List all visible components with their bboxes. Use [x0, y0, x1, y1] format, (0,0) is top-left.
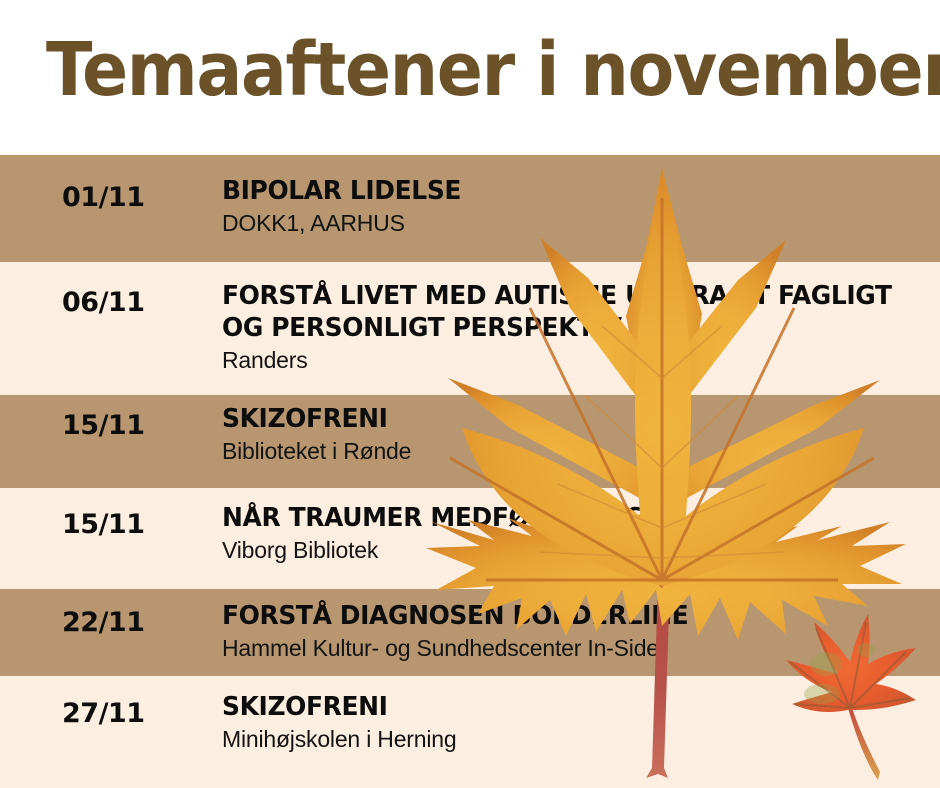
event-date: 15/11	[62, 411, 212, 441]
event-row: 15/11 NÅR TRAUMER MEDFØRER PTSD Viborg B…	[0, 488, 940, 589]
event-body: SKIZOFRENI Minihøjskolen i Herning	[222, 691, 930, 754]
event-date: 06/11	[62, 288, 212, 318]
event-title: NÅR TRAUMER MEDFØRER PTSD	[222, 502, 902, 534]
event-venue: DOKK1, AARHUS	[222, 208, 930, 238]
event-title: SKIZOFRENI	[222, 403, 902, 435]
event-venue: Viborg Bibliotek	[222, 535, 930, 565]
event-venue: Biblioteket i Rønde	[222, 436, 930, 466]
event-title: BIPOLAR LIDELSE	[222, 175, 902, 207]
event-title: FORSTÅ DIAGNOSEN BORDERLINE	[222, 600, 902, 632]
event-venue: Hammel Kultur- og Sundhedscenter In-Side	[222, 633, 930, 663]
event-body: SKIZOFRENI Biblioteket i Rønde	[222, 403, 930, 466]
event-body: BIPOLAR LIDELSE DOKK1, AARHUS	[222, 175, 930, 238]
event-date: 15/11	[62, 510, 212, 540]
event-date: 27/11	[62, 699, 212, 729]
page-title: Temaaftener i november	[46, 28, 940, 112]
event-row: 06/11 FORSTÅ LIVET MED AUTISME UD FRA ET…	[0, 262, 940, 395]
event-body: FORSTÅ DIAGNOSEN BORDERLINE Hammel Kultu…	[222, 600, 930, 663]
event-body: FORSTÅ LIVET MED AUTISME UD FRA ET FAGLI…	[222, 280, 930, 375]
event-title: SKIZOFRENI	[222, 691, 902, 723]
title-band: Temaaftener i november	[0, 0, 940, 155]
event-date: 01/11	[62, 183, 212, 213]
event-row: 22/11 FORSTÅ DIAGNOSEN BORDERLINE Hammel…	[0, 589, 940, 676]
event-date: 22/11	[62, 608, 212, 638]
event-row: 15/11 SKIZOFRENI Biblioteket i Rønde	[0, 395, 940, 488]
event-body: NÅR TRAUMER MEDFØRER PTSD Viborg Bibliot…	[222, 502, 930, 565]
event-title: FORSTÅ LIVET MED AUTISME UD FRA ET FAGLI…	[222, 280, 902, 344]
event-venue: Minihøjskolen i Herning	[222, 724, 930, 754]
poster: 01/11 BIPOLAR LIDELSE DOKK1, AARHUS 06/1…	[0, 0, 940, 788]
event-venue: Randers	[222, 345, 930, 375]
event-row: 27/11 SKIZOFRENI Minihøjskolen i Herning	[0, 676, 940, 788]
event-row: 01/11 BIPOLAR LIDELSE DOKK1, AARHUS	[0, 155, 940, 262]
